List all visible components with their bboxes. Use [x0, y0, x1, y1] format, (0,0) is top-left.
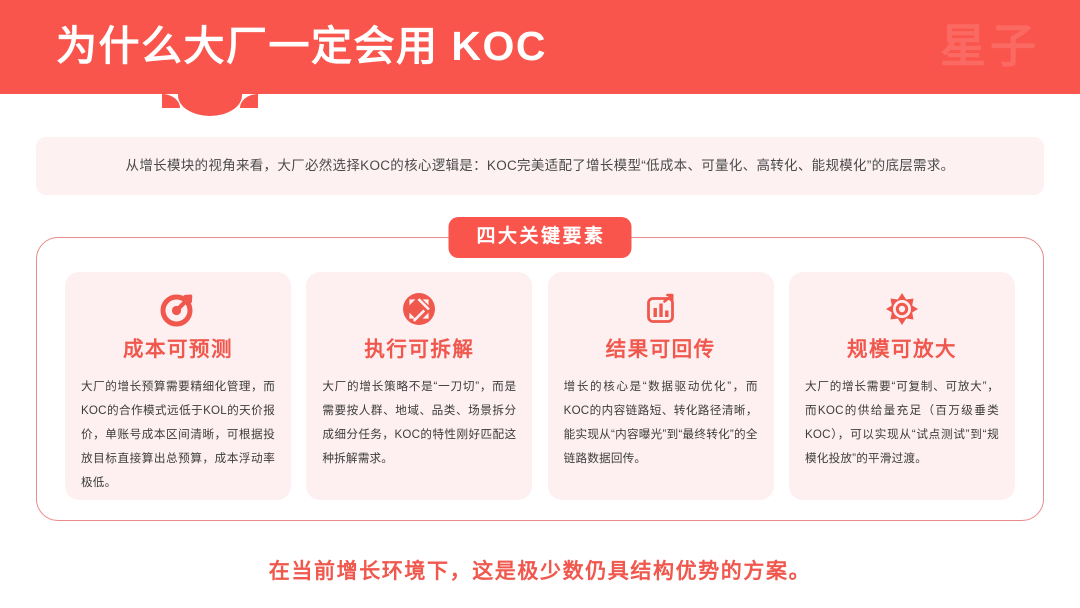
- footer-text: 在当前增长环境下，这是极少数仍具结构优势的方案。: [0, 558, 1080, 586]
- bar-chart-arrow-icon: [641, 289, 681, 329]
- card-title: 执行可拆解: [364, 338, 474, 362]
- subtitle-band: 从增长模块的视角来看，大厂必然选择KOC的核心逻辑是：KOC完美适配了增长模型“…: [36, 137, 1044, 195]
- target-icon: [158, 289, 198, 329]
- cards-row: 成本可预测 大厂的增长预算需要精细化管理，而KOC的合作模式远低于KOL的天价报…: [36, 272, 1044, 507]
- brand-watermark: 星子: [940, 18, 1040, 74]
- card-results-trackable[interactable]: 结果可回传 增长的核心是“数据驱动优化”，而KOC的内容链路短、转化路径清晰，能…: [548, 272, 774, 500]
- header-banner: 为什么大厂一定会用 KOC 星子: [0, 0, 1080, 94]
- card-title: 成本可预测: [123, 338, 233, 362]
- card-body: 大厂的增长策略不是“一刀切”，而是需要按人群、地域、品类、场景拆分成细分任务，K…: [322, 375, 516, 471]
- subtitle-text: 从增长模块的视角来看，大厂必然选择KOC的核心逻辑是：KOC完美适配了增长模型“…: [126, 156, 955, 176]
- scope-target-icon: [882, 289, 922, 329]
- card-scale-amplifiable[interactable]: 规模可放大 大厂的增长需要“可复制、可放大”，而KOC的供给量充足（百万级垂类K…: [789, 272, 1015, 500]
- card-title: 结果可回传: [606, 338, 716, 362]
- header-notch-decoration: [178, 94, 242, 116]
- card-body: 大厂的增长需要“可复制、可放大”，而KOC的供给量充足（百万级垂类KOC），可以…: [805, 375, 999, 471]
- card-body: 增长的核心是“数据驱动优化”，而KOC的内容链路短、转化路径清晰，能实现从“内容…: [564, 375, 758, 471]
- card-title: 规模可放大: [847, 338, 957, 362]
- card-execution-decomposable[interactable]: 执行可拆解 大厂的增长策略不是“一刀切”，而是需要按人群、地域、品类、场景拆分成…: [306, 272, 532, 500]
- page-title: 为什么大厂一定会用 KOC: [56, 19, 547, 74]
- expand-arrows-icon: [399, 289, 439, 329]
- card-body: 大厂的增长预算需要精细化管理，而KOC的合作模式远低于KOL的天价报价，单账号成…: [81, 375, 275, 495]
- card-cost-predictable[interactable]: 成本可预测 大厂的增长预算需要精细化管理，而KOC的合作模式远低于KOL的天价报…: [65, 272, 291, 500]
- section-badge: 四大关键要素: [448, 217, 631, 258]
- footer: 在当前增长环境下，这是极少数仍具结构优势的方案。: [0, 558, 1080, 586]
